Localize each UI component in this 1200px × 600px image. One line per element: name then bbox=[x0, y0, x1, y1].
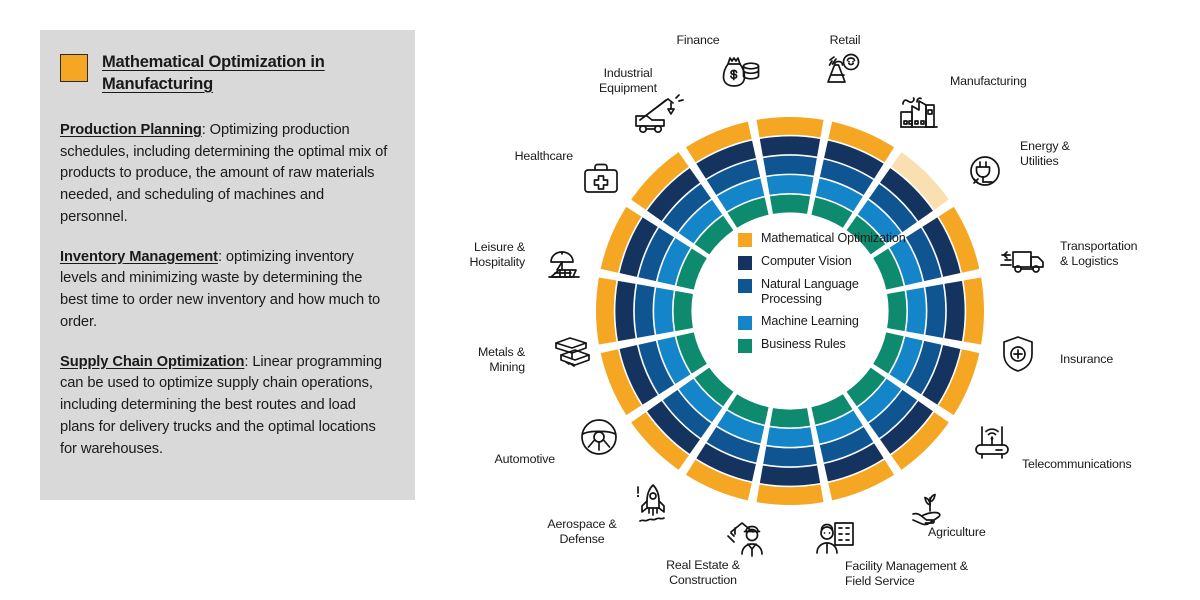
legend-color-swatch bbox=[738, 233, 752, 247]
industry-label-leisure-hospitality: Leisure & Hospitality bbox=[420, 240, 525, 270]
ring-arc[interactable] bbox=[674, 291, 693, 331]
panel-title-row: Mathematical Optimization in Manufacturi… bbox=[60, 52, 389, 96]
legend-item-label: Natural Language Processing bbox=[761, 277, 908, 307]
page-title: Mathematical Optimization in Manufacturi… bbox=[102, 52, 389, 96]
title-color-swatch bbox=[60, 54, 88, 82]
legend-color-swatch bbox=[738, 316, 752, 330]
paragraph-inventory-management: Inventory Management: optimizing invento… bbox=[60, 247, 389, 334]
industry-label-automotive: Automotive bbox=[420, 452, 555, 467]
ring-arc[interactable] bbox=[770, 195, 810, 214]
industry-label-retail: Retail bbox=[775, 33, 915, 48]
industry-wheel: FinanceRetailManufacturingEnergy & Utili… bbox=[420, 0, 1200, 600]
factory-icon bbox=[898, 92, 944, 132]
industry-label-finance: Finance bbox=[628, 33, 768, 48]
steel-beam-icon bbox=[546, 333, 594, 375]
ring-arc[interactable] bbox=[615, 281, 635, 341]
paragraph-production-planning: Production Planning: Optimizing producti… bbox=[60, 120, 389, 229]
ring-arc[interactable] bbox=[763, 156, 817, 176]
legend-color-swatch bbox=[738, 339, 752, 353]
ring-arc[interactable] bbox=[944, 281, 964, 341]
industry-label-agriculture: Agriculture bbox=[928, 525, 986, 540]
ring-arc[interactable] bbox=[596, 277, 616, 344]
wheel-segment-facility-management-field-service[interactable] bbox=[756, 408, 823, 505]
industry-label-energy-utilities: Energy & Utilities bbox=[1020, 139, 1070, 169]
paragraph-heading: Production Planning bbox=[60, 122, 202, 138]
wifi-router-icon bbox=[968, 419, 1016, 461]
legend-item: Machine Learning bbox=[738, 314, 908, 330]
wheel-segment-finance[interactable] bbox=[756, 117, 823, 214]
legend-item: Computer Vision bbox=[738, 254, 908, 270]
first-aid-kit-icon bbox=[580, 158, 622, 198]
wheel-segment-metals-mining[interactable] bbox=[596, 277, 693, 344]
beach-chair-icon bbox=[543, 244, 589, 286]
industry-label-aerospace-defense: Aerospace & Defense bbox=[512, 517, 652, 547]
construction-worker-icon bbox=[722, 516, 768, 560]
paragraph-heading: Inventory Management bbox=[60, 249, 218, 265]
ring-arc[interactable] bbox=[770, 408, 810, 427]
legend-item-label: Computer Vision bbox=[761, 254, 852, 269]
legend-color-swatch bbox=[738, 256, 752, 270]
ring-arc[interactable] bbox=[763, 446, 817, 466]
ring-arc[interactable] bbox=[767, 427, 814, 447]
ring-arc[interactable] bbox=[760, 136, 820, 156]
ring-arc[interactable] bbox=[964, 277, 984, 344]
ring-arc[interactable] bbox=[767, 175, 814, 195]
steering-wheel-icon bbox=[577, 415, 621, 459]
info-panel: Mathematical Optimization in Manufacturi… bbox=[40, 30, 415, 500]
industry-label-industrial-equipment: Industrial Equipment bbox=[558, 66, 698, 96]
ring-arc[interactable] bbox=[654, 288, 674, 335]
building-worker-icon bbox=[813, 517, 859, 559]
industry-label-metals-mining: Metals & Mining bbox=[420, 345, 525, 375]
power-plug-icon bbox=[965, 152, 1005, 192]
ring-arc[interactable] bbox=[760, 465, 820, 485]
legend-item-label: Machine Learning bbox=[761, 314, 859, 329]
shopping-bag-icon bbox=[820, 52, 862, 92]
industry-label-insurance: Insurance bbox=[1060, 352, 1113, 367]
money-bag-icon bbox=[720, 52, 762, 92]
industry-label-transportation-logistics: Transportation & Logistics bbox=[1060, 239, 1137, 269]
industry-label-manufacturing: Manufacturing bbox=[950, 74, 1027, 89]
legend-color-swatch bbox=[738, 279, 752, 293]
industry-label-real-estate-construction: Real Estate & Construction bbox=[633, 558, 773, 588]
legend-item-label: Mathematical Optimization bbox=[761, 231, 906, 246]
paragraph-supply-chain-optimization: Supply Chain Optimization: Linear progra… bbox=[60, 352, 389, 461]
crane-truck-icon bbox=[632, 92, 684, 136]
delivery-truck-icon bbox=[1000, 243, 1048, 279]
legend-item-label: Business Rules bbox=[761, 337, 846, 352]
industry-label-telecommunications: Telecommunications bbox=[1022, 457, 1132, 472]
ring-arc[interactable] bbox=[925, 284, 945, 338]
legend-item: Business Rules bbox=[738, 337, 908, 353]
industry-label-facility-management-field-service: Facility Management & Field Service bbox=[845, 559, 968, 589]
ring-arc[interactable] bbox=[756, 485, 823, 505]
industry-label-healthcare: Healthcare bbox=[420, 149, 573, 164]
ring-arc[interactable] bbox=[906, 288, 926, 335]
ring-arc[interactable] bbox=[635, 284, 655, 338]
paragraph-heading: Supply Chain Optimization bbox=[60, 354, 244, 370]
legend-item: Mathematical Optimization bbox=[738, 231, 908, 247]
legend-item: Natural Language Processing bbox=[738, 277, 908, 307]
shield-plus-icon bbox=[998, 333, 1038, 375]
legend: Mathematical OptimizationComputer Vision… bbox=[738, 231, 908, 353]
ring-arc[interactable] bbox=[756, 117, 823, 137]
